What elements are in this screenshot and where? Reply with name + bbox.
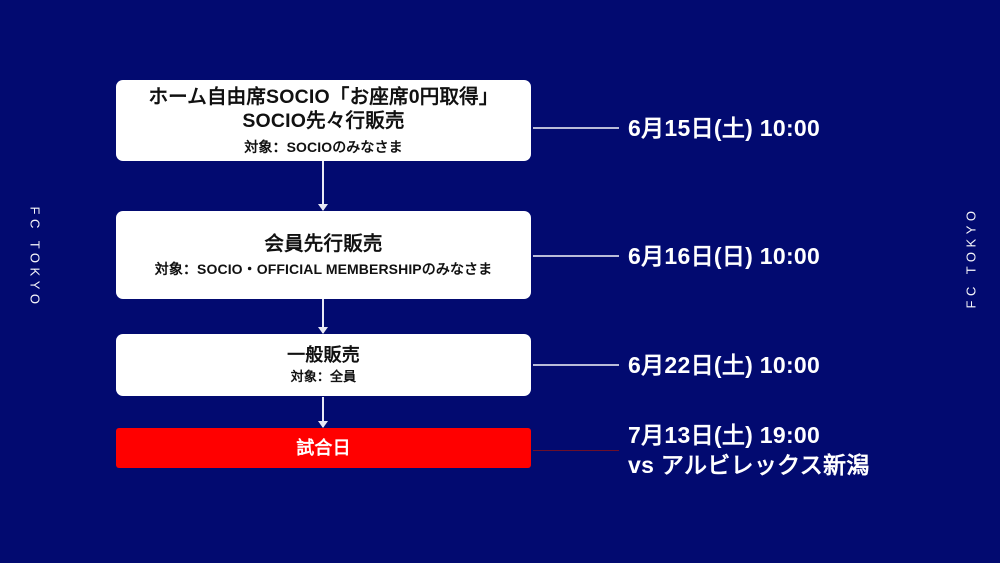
date-text: 6月16日(日) 10:00 bbox=[628, 241, 820, 271]
flow-step-title: 一般販売 bbox=[287, 344, 360, 367]
leader-line-4 bbox=[533, 450, 619, 451]
flow-step-title-line2: SOCIO先々行販売 bbox=[242, 110, 404, 132]
date-label-member-advance-sale: 6月16日(日) 10:00 bbox=[628, 241, 820, 271]
flow-step-socio-advance-sale: ホーム自由席SOCIO「お座席0円取得」 SOCIO先々行販売 対象：SOCIO… bbox=[116, 80, 531, 161]
flow-step-title-line1: ホーム自由席SOCIO「お座席0円取得」 bbox=[148, 86, 498, 108]
flow-step-title: ホーム自由席SOCIO「お座席0円取得」 SOCIO先々行販売 bbox=[148, 85, 498, 134]
brand-wordmark-right: FC TOKYO bbox=[963, 207, 978, 309]
flow-step-member-advance-sale: 会員先行販売 対象：SOCIO・OFFICIAL MEMBERSHIPのみなさま bbox=[116, 211, 531, 299]
flow-step-subtitle: 対象：SOCIO・OFFICIAL MEMBERSHIPのみなさま bbox=[155, 260, 493, 278]
flow-step-general-sale: 一般販売 対象：全員 bbox=[116, 334, 531, 396]
flow-arrow-down-icon bbox=[322, 161, 324, 210]
flow-step-match-day: 試合日 bbox=[116, 428, 531, 468]
opponent-text: vs アルビレックス新潟 bbox=[628, 450, 870, 480]
date-text: 6月15日(土) 10:00 bbox=[628, 113, 820, 143]
flow-step-subtitle: 対象：SOCIOのみなさま bbox=[244, 138, 402, 156]
date-label-general-sale: 6月22日(土) 10:00 bbox=[628, 350, 820, 380]
flow-step-title: 会員先行販売 bbox=[264, 232, 382, 256]
date-label-socio-advance-sale: 6月15日(土) 10:00 bbox=[628, 113, 820, 143]
leader-line-2 bbox=[533, 255, 619, 257]
flow-arrow-down-icon bbox=[322, 299, 324, 333]
ticket-sales-schedule-graphic: FC TOKYO FC TOKYO ホーム自由席SOCIO「お座席0円取得」 S… bbox=[0, 0, 1000, 563]
flow-step-subtitle: 対象：全員 bbox=[291, 369, 357, 386]
date-text: 6月22日(土) 10:00 bbox=[628, 350, 820, 380]
brand-wordmark-left: FC TOKYO bbox=[27, 207, 42, 309]
date-text: 7月13日(土) 19:00 bbox=[628, 420, 870, 450]
date-label-match-day: 7月13日(土) 19:00 vs アルビレックス新潟 bbox=[628, 420, 870, 481]
leader-line-1 bbox=[533, 127, 619, 129]
flow-step-title: 試合日 bbox=[296, 437, 351, 460]
leader-line-3 bbox=[533, 364, 619, 366]
flow-arrow-down-icon bbox=[322, 397, 324, 427]
